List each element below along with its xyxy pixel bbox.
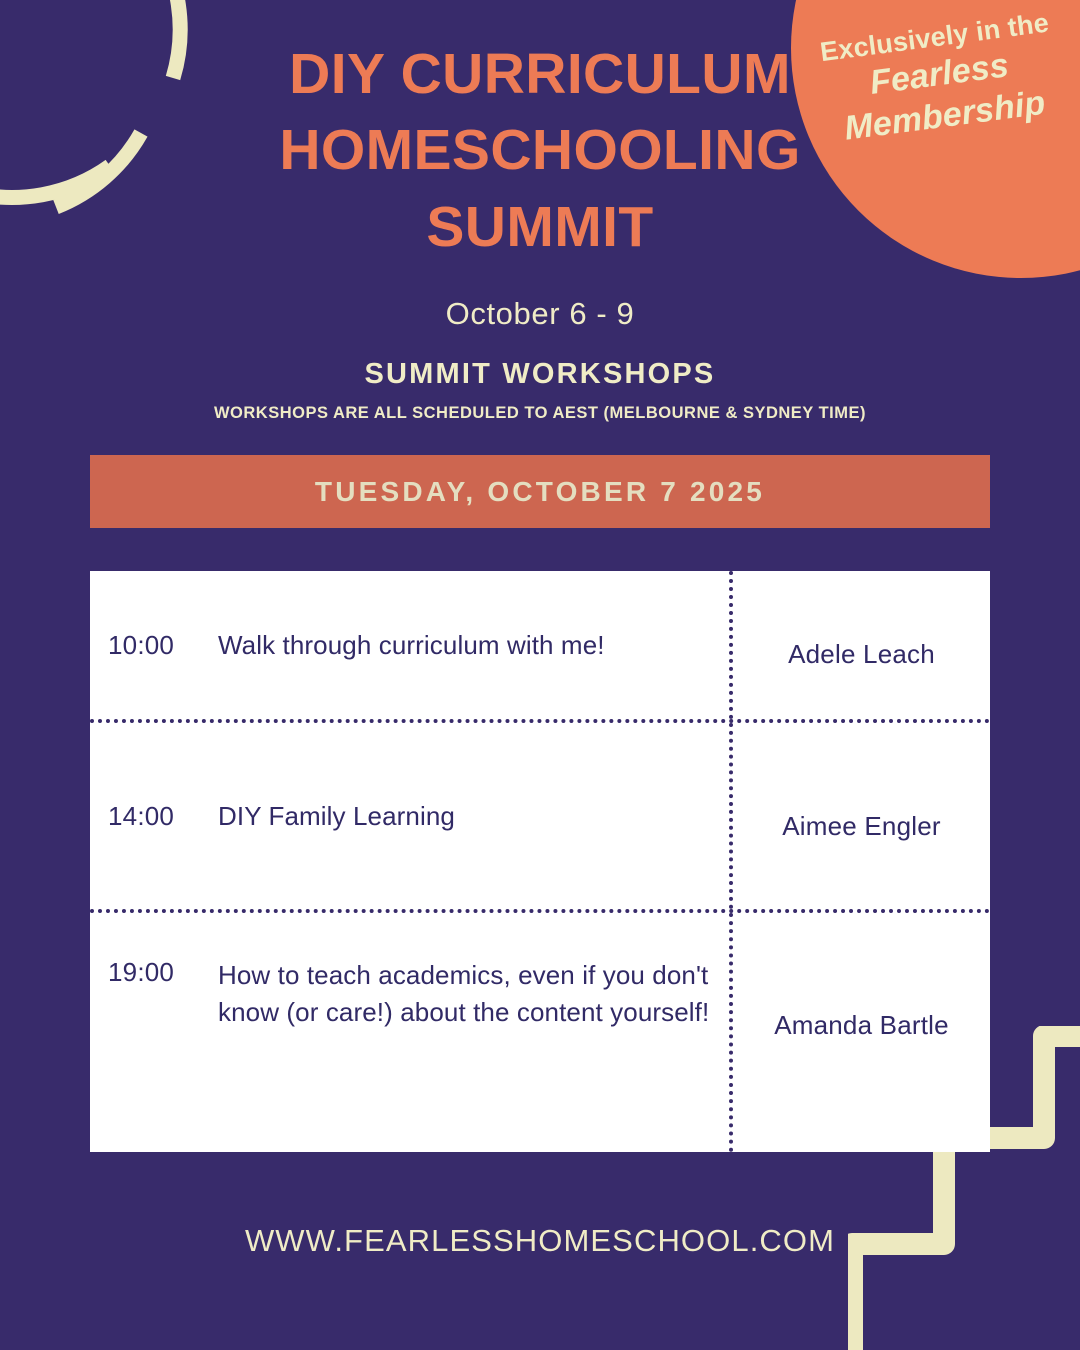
- session-title: How to teach academics, even if you don'…: [218, 957, 719, 1031]
- presenter-name: Adele Leach: [788, 639, 935, 670]
- table-row: 10:00 Walk through curriculum with me! A…: [90, 571, 990, 723]
- session-cell: 19:00 How to teach academics, even if yo…: [90, 913, 733, 1152]
- table-row: 14:00 DIY Family Learning Aimee Engler: [90, 723, 990, 913]
- session-title: DIY Family Learning: [218, 798, 455, 835]
- session-cell: 10:00 Walk through curriculum with me!: [90, 571, 733, 719]
- schedule-table: 10:00 Walk through curriculum with me! A…: [90, 571, 990, 1152]
- presenter-cell: Amanda Bartle: [733, 913, 990, 1152]
- poster-canvas: Exclusively in the Fearless Membership D…: [0, 0, 1080, 1350]
- presenter-name: Amanda Bartle: [774, 1010, 949, 1041]
- day-banner: TUESDAY, OCTOBER 7 2025: [90, 455, 990, 528]
- presenter-cell: Adele Leach: [733, 571, 990, 719]
- presenter-name: Aimee Engler: [782, 811, 940, 842]
- footer-website-url[interactable]: WWW.FEARLESSHOMESCHOOL.COM: [0, 1223, 1080, 1259]
- event-dates: October 6 - 9: [0, 296, 1080, 332]
- section-heading: SUMMIT WORKSHOPS: [0, 358, 1080, 391]
- session-time: 19:00: [108, 957, 218, 988]
- session-time: 14:00: [108, 801, 218, 832]
- day-banner-label: TUESDAY, OCTOBER 7 2025: [315, 476, 765, 508]
- presenter-cell: Aimee Engler: [733, 723, 990, 909]
- session-title: Walk through curriculum with me!: [218, 627, 605, 664]
- table-row: 19:00 How to teach academics, even if yo…: [90, 913, 990, 1152]
- session-cell: 14:00 DIY Family Learning: [90, 723, 733, 909]
- session-time: 10:00: [108, 630, 218, 661]
- timezone-note: WORKSHOPS ARE ALL SCHEDULED TO AEST (MEL…: [0, 404, 1080, 423]
